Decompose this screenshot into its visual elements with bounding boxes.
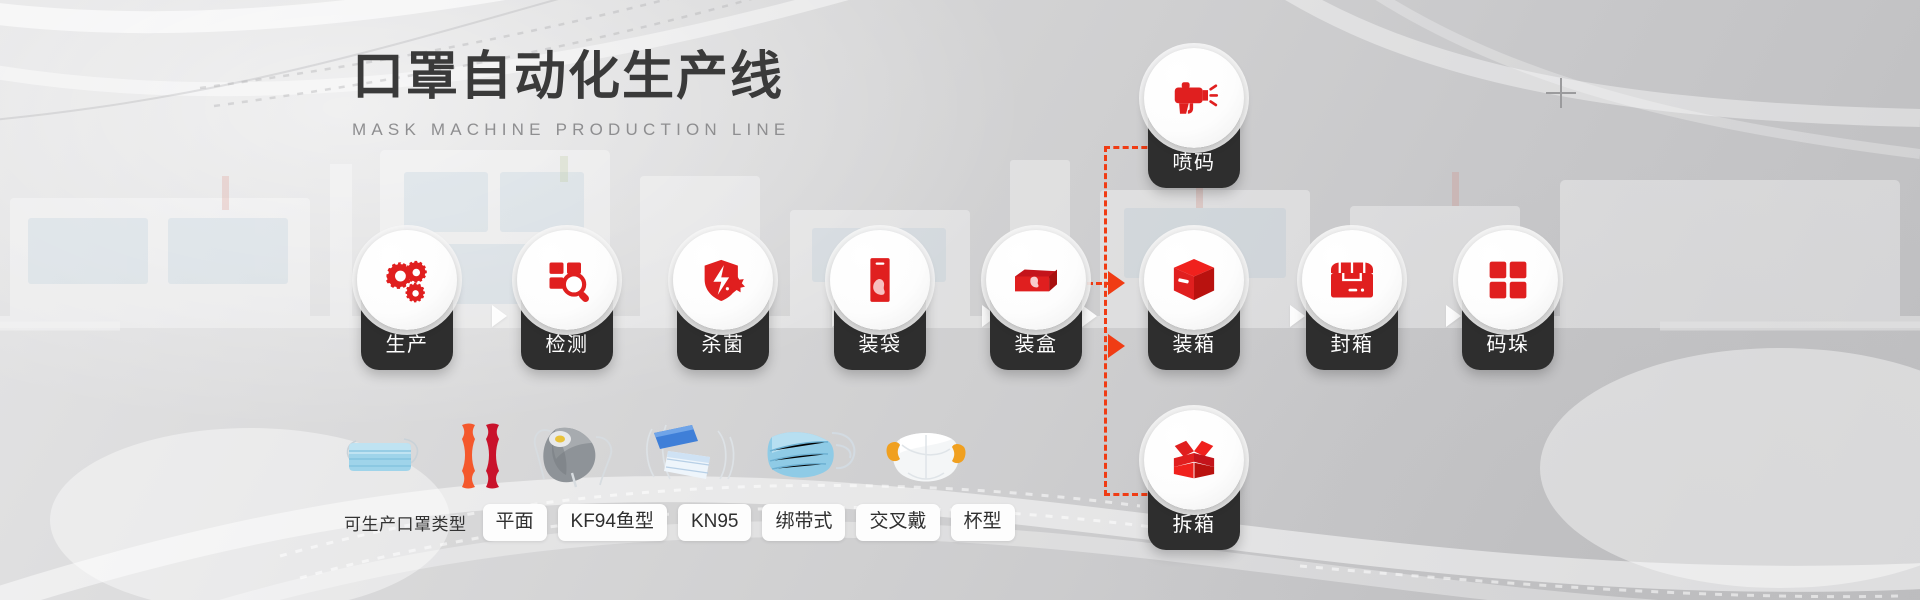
mask-type-legend: 可生产口罩类型 平面 KF94鱼型 KN95 绑带式 交叉戴 杯型 xyxy=(344,504,1015,541)
mask-type-chip-cup[interactable]: 杯型 xyxy=(951,504,1015,541)
shield-sterilize-icon xyxy=(695,252,751,308)
step-label: 生产 xyxy=(361,328,453,357)
banner-canvas: 口罩自动化生产线 MASK MACHINE PRODUCTION LINE 生产 xyxy=(0,0,1920,600)
flow-arrow-into-cartoning xyxy=(1082,305,1097,327)
plus-mark-icon xyxy=(1546,78,1576,108)
page-title: 口罩自动化生产线 xyxy=(352,48,790,108)
branch-arrow-lower xyxy=(1108,334,1125,358)
mask-type-chip-flat[interactable]: 平面 xyxy=(483,504,547,541)
step-label: 装盒 xyxy=(990,328,1082,357)
palletize-grid-icon xyxy=(1480,252,1536,308)
factory-machine-silhouette xyxy=(0,120,1920,360)
flow-arrow-1 xyxy=(492,305,507,327)
mask-type-chip-kf94[interactable]: KF94鱼型 xyxy=(558,504,667,541)
mask-type-chip-kn95[interactable]: KN95 xyxy=(678,504,752,541)
closed-box-icon xyxy=(1166,252,1222,308)
mask-thumb-cup-mask xyxy=(880,421,972,496)
page-subtitle: MASK MACHINE PRODUCTION LINE xyxy=(352,120,790,140)
step-icon-disc xyxy=(986,230,1086,330)
step-icon-disc xyxy=(1144,48,1244,148)
step-label: 装箱 xyxy=(1148,328,1240,357)
mask-type-chip-tie-on[interactable]: 绑带式 xyxy=(762,504,845,541)
step-icon-disc xyxy=(1302,230,1402,330)
mask-thumb-kn95-valve-mask xyxy=(526,415,622,496)
step-label: 拆箱 xyxy=(1148,508,1240,537)
open-box-icon xyxy=(1166,432,1222,488)
step-icon-disc xyxy=(830,230,930,330)
branch-arrow-upper xyxy=(1108,271,1125,295)
mask-thumb-tie-on-mask xyxy=(640,415,740,496)
carton-box-icon xyxy=(1008,252,1064,308)
magnifier-inspection-icon xyxy=(539,252,595,308)
step-label: 喷码 xyxy=(1148,146,1240,175)
step-icon-disc xyxy=(517,230,617,330)
banner-heading: 口罩自动化生产线 MASK MACHINE PRODUCTION LINE xyxy=(352,48,790,140)
gears-icon xyxy=(379,252,435,308)
step-label: 检测 xyxy=(521,328,613,357)
step-icon-disc xyxy=(1144,410,1244,510)
step-label: 码垛 xyxy=(1462,328,1554,357)
step-label: 装袋 xyxy=(834,328,926,357)
sealed-box-icon xyxy=(1324,252,1380,308)
step-label: 封箱 xyxy=(1306,328,1398,357)
mask-type-chip-cross[interactable]: 交叉戴 xyxy=(856,504,939,541)
flow-arrow-6 xyxy=(1446,305,1461,327)
spray-gun-icon xyxy=(1166,70,1222,126)
bag-pack-icon xyxy=(852,252,908,308)
branch-trunk-line xyxy=(1104,146,1107,496)
step-icon-disc xyxy=(1144,230,1244,330)
flow-arrow-5 xyxy=(1290,305,1305,327)
step-label: 杀菌 xyxy=(677,328,769,357)
mask-thumb-kf94-fish-mask xyxy=(446,419,508,496)
step-icon-disc xyxy=(673,230,773,330)
mask-thumb-earloop-mask xyxy=(758,417,862,496)
mask-type-legend-label: 可生产口罩类型 xyxy=(344,510,467,535)
step-icon-disc xyxy=(1458,230,1558,330)
mask-type-images xyxy=(344,418,972,496)
step-icon-disc xyxy=(357,230,457,330)
mask-thumb-flat-surgical-mask xyxy=(344,421,428,496)
